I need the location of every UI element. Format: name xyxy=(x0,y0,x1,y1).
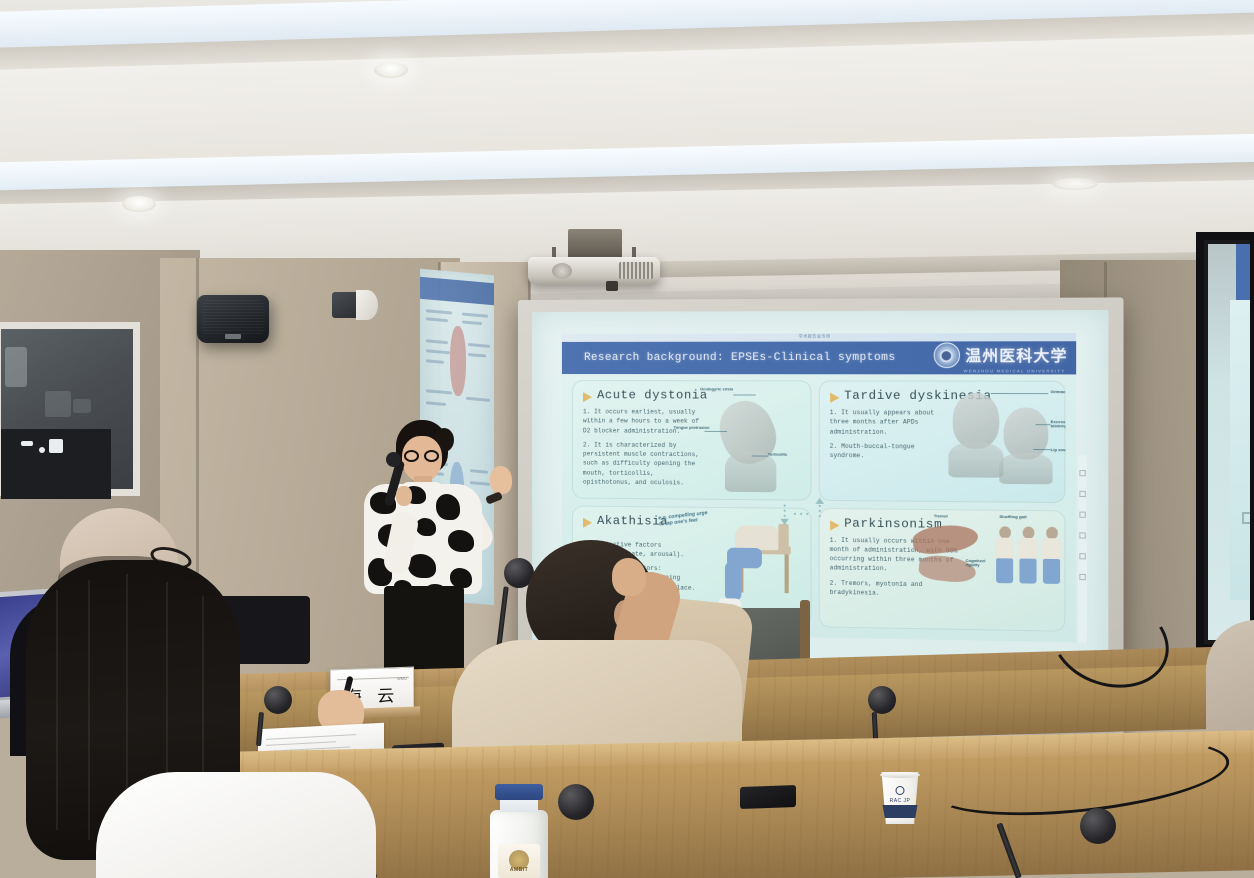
speaker-grille xyxy=(202,300,264,335)
right-display-marker xyxy=(1242,512,1254,524)
university-seal-icon xyxy=(934,342,960,368)
card-paragraph: 2. Tremors, myotonia and bradykinesia. xyxy=(830,578,965,599)
chair-back xyxy=(778,523,788,550)
right-display-panel xyxy=(1208,244,1254,640)
milk-bottle: AMBIT xyxy=(486,784,552,878)
security-camera xyxy=(332,290,378,324)
paper-cup: RAC JP xyxy=(878,772,922,824)
illustration-label: Excessive blinking xyxy=(1051,420,1066,429)
card-paragraph: 2. Mouth-buccal-tongue syndrome. xyxy=(830,442,954,462)
card-illustration-dystonia: Oculogyric crisis Tongue protrusion Tort… xyxy=(698,384,809,494)
right-display-body xyxy=(1230,300,1254,600)
university-name: 温州医科大学 xyxy=(965,344,1067,366)
university-subtitle: WENZHOU MEDICAL UNIVERSITY xyxy=(964,368,1066,373)
bottle-label: AMBIT xyxy=(498,844,540,878)
cup-band xyxy=(881,805,919,818)
cup-brand-text: RAC JP xyxy=(890,798,911,804)
slide-watermark: 学术报告会专用 xyxy=(799,333,831,339)
head-figure xyxy=(1004,407,1049,459)
illustration-label: Tongue protrusion xyxy=(674,425,710,430)
card-illustration-dyskinesia: Grimacing Excessive blinking Lip smackin… xyxy=(949,385,1064,497)
wall-speaker xyxy=(197,295,269,343)
head-figure xyxy=(953,393,1000,449)
card-illustration-parkinsonism: Tremor Shuffling gait Cogwheel rigidity xyxy=(949,513,1064,626)
illustration-label: Torticollis xyxy=(768,452,787,457)
bottle-cap[interactable] xyxy=(495,784,543,800)
ceiling-downlight xyxy=(374,62,408,78)
ceiling-downlight xyxy=(1052,178,1098,190)
torso-figure xyxy=(999,453,1052,484)
slide-header-title: Research background: EPSEs-Clinical symp… xyxy=(584,352,896,364)
projector-vent xyxy=(619,262,653,279)
slide-card-tardive-dyskinesia: Tardive dyskinesia 1. It usually appears… xyxy=(818,380,1065,502)
projector-lens xyxy=(552,263,572,279)
smartphone[interactable] xyxy=(740,785,796,809)
card-title: Acute dystonia xyxy=(597,388,708,402)
torso-figure xyxy=(725,451,776,492)
presenter-glasses xyxy=(404,450,419,462)
presenter-jacket xyxy=(364,484,482,594)
slide-header: Research background: EPSEs-Clinical symp… xyxy=(562,341,1076,374)
illustration-label: Tremor xyxy=(934,513,948,518)
window-reflection xyxy=(73,399,91,413)
audience-hand xyxy=(612,558,646,596)
bullet-arrow-icon xyxy=(583,517,592,527)
presenter-right-hand xyxy=(490,466,512,494)
card-body: 1. It occurs earliest, usually within a … xyxy=(583,407,702,488)
bullet-arrow-icon xyxy=(583,392,592,402)
microphone-head xyxy=(386,452,401,467)
lecture-room-photo: 学术报告会专用 Research background: EPSEs-Clini… xyxy=(0,0,1254,878)
bullet-arrow-icon xyxy=(830,393,839,403)
ceiling-projector xyxy=(528,245,660,285)
ceiling-downlight xyxy=(122,196,156,212)
illustration-label: Lip smacking xyxy=(1051,447,1066,452)
camera-dome xyxy=(356,290,378,320)
slide-card-acute-dystonia: Acute dystonia 1. It occurs earliest, us… xyxy=(572,380,811,500)
control-room-window xyxy=(0,322,140,496)
card-paragraph: 2. It is characterized by persistent mus… xyxy=(583,440,702,488)
university-branding: 温州医科大学 xyxy=(934,342,1068,368)
cup-logo-icon xyxy=(896,786,905,795)
side-display-right xyxy=(1196,232,1254,652)
illustration-label: Oculogyric crisis xyxy=(700,386,733,391)
bottle-body: AMBIT xyxy=(490,810,548,878)
illustration-label: Grimacing xyxy=(1051,389,1066,394)
bottle-brand-text: AMBIT xyxy=(510,867,528,873)
side-display-header xyxy=(420,277,494,305)
illustration-label: Shuffling gait xyxy=(999,513,1026,518)
presenter-glasses xyxy=(424,450,439,462)
speaker-brand-logo xyxy=(225,334,241,339)
slide-card-parkinsonism: Parkinsonism 1. It usually occurs within… xyxy=(818,507,1065,631)
cup-rim xyxy=(880,772,920,778)
window-dark-panel xyxy=(1,429,111,499)
card-paragraph: 1. It usually appears about three months… xyxy=(830,408,954,437)
audience-torso xyxy=(96,772,376,878)
presenter-left-hand xyxy=(396,486,412,506)
right-display-header xyxy=(1236,244,1254,300)
presenter-wristwatch xyxy=(485,491,503,504)
projector-knob xyxy=(606,281,618,291)
torso-figure xyxy=(949,442,1004,477)
bottle-neck xyxy=(500,798,538,812)
window-reflection xyxy=(45,391,71,417)
window-reflection xyxy=(5,347,27,387)
bullet-arrow-icon xyxy=(830,520,839,530)
projector-mount xyxy=(568,229,622,259)
illustration-label: Cogwheel rigidity xyxy=(965,558,993,567)
card-body: 1. It usually appears about three months… xyxy=(830,408,954,461)
card-paragraph: 1. It occurs earliest, usually within a … xyxy=(583,407,702,436)
